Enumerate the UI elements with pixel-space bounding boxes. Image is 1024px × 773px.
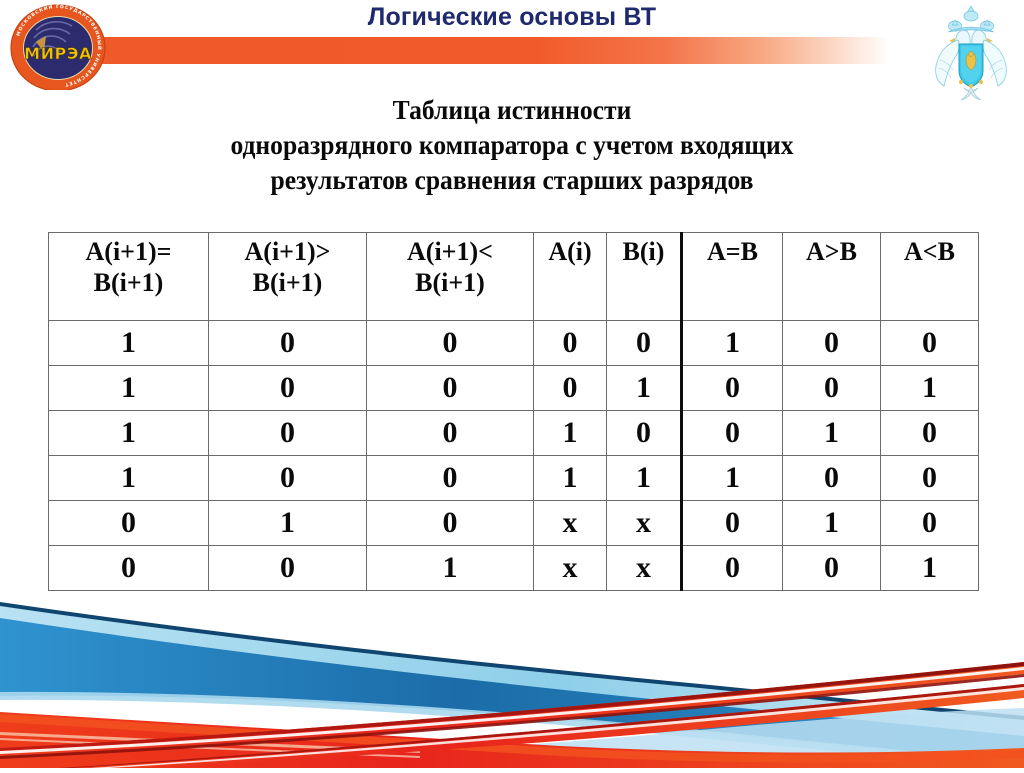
table-row: 10011100 [49, 456, 979, 501]
table-cell: 0 [881, 321, 979, 366]
column-header-line-top: A(i+1)< [367, 236, 533, 267]
table-cell: 1 [367, 546, 534, 591]
table-cell: 0 [49, 501, 209, 546]
table-cell: 0 [534, 366, 607, 411]
slide-heading: Таблица истинности одноразрядного компар… [60, 92, 964, 197]
table-cell: 0 [682, 546, 783, 591]
double-headed-eagle-emblem-icon [928, 2, 1014, 106]
table-row: 001xx001 [49, 546, 979, 591]
table-cell: 0 [534, 321, 607, 366]
table-cell: 0 [783, 456, 881, 501]
table-cell: 1 [49, 321, 209, 366]
column-header-line-top: A(i+1)= [49, 236, 208, 267]
table-cell: 0 [367, 366, 534, 411]
truth-table-container: A(i+1)= B(i+1) A(i+1)> B(i+1) A(i+1)< B(… [48, 232, 978, 591]
table-cell: 0 [881, 501, 979, 546]
table-cell: 0 [49, 546, 209, 591]
table-cell: 1 [783, 501, 881, 546]
table-cell: 0 [783, 321, 881, 366]
table-cell: x [607, 546, 682, 591]
truth-table: A(i+1)= B(i+1) A(i+1)> B(i+1) A(i+1)< B(… [48, 232, 979, 591]
column-header-line-bottom: B(i+1) [49, 267, 208, 298]
table-cell: 1 [49, 411, 209, 456]
truth-table-header: A(i+1)= B(i+1) A(i+1)> B(i+1) A(i+1)< B(… [49, 233, 979, 321]
table-cell: 0 [783, 546, 881, 591]
table-cell: 0 [209, 411, 367, 456]
column-header-a-eq-b: A=B [682, 233, 783, 321]
column-header-line-bottom: B(i+1) [367, 267, 533, 298]
table-cell: 0 [783, 366, 881, 411]
table-cell: 0 [682, 366, 783, 411]
table-cell: 0 [209, 321, 367, 366]
table-cell: 0 [209, 456, 367, 501]
table-cell: 0 [881, 456, 979, 501]
table-row: 10000100 [49, 321, 979, 366]
table-row: 10010010 [49, 411, 979, 456]
table-cell: x [534, 546, 607, 591]
table-cell: 1 [49, 456, 209, 501]
heading-line-1: Таблица истинности [92, 92, 933, 127]
table-cell: 1 [209, 501, 367, 546]
svg-text:МИРЭА: МИРЭА [24, 44, 92, 63]
table-cell: 1 [534, 411, 607, 456]
mirea-university-seal-icon: МОСКОВСКИЙ ГОСУДАРСТВЕННЫЙ УНИВЕРСИТЕТ М… [6, 2, 110, 90]
table-cell: 1 [534, 456, 607, 501]
table-cell: 0 [607, 321, 682, 366]
table-cell: 0 [682, 501, 783, 546]
table-cell: x [607, 501, 682, 546]
table-cell: 0 [367, 321, 534, 366]
column-header-a-lt-b: A<B [881, 233, 979, 321]
table-header-row: A(i+1)= B(i+1) A(i+1)> B(i+1) A(i+1)< B(… [49, 233, 979, 321]
table-cell: 1 [607, 366, 682, 411]
table-cell: 1 [607, 456, 682, 501]
table-cell: 1 [682, 321, 783, 366]
column-header-a-gt-b: A>B [783, 233, 881, 321]
heading-line-3: результатов сравнения старших разрядов [92, 162, 933, 197]
table-cell: 1 [881, 366, 979, 411]
table-cell: 0 [881, 411, 979, 456]
table-cell: 0 [607, 411, 682, 456]
heading-line-2: одноразрядного компаратора с учетом вход… [92, 127, 933, 162]
wave-ribbon-decoration-icon [0, 588, 1024, 768]
page-title: Логические основы ВТ [0, 3, 1024, 32]
table-row: 10001001 [49, 366, 979, 411]
table-cell: 1 [881, 546, 979, 591]
table-cell: 0 [367, 411, 534, 456]
column-header-line-top: A(i+1)> [209, 236, 366, 267]
column-header-bi: B(i) [607, 233, 682, 321]
column-header-ai: A(i) [534, 233, 607, 321]
truth-table-body: 10000100100010011001001010011100010xx010… [49, 321, 979, 591]
column-header-a-eq-b-prev: A(i+1)= B(i+1) [49, 233, 209, 321]
table-cell: 0 [367, 501, 534, 546]
table-cell: 0 [209, 366, 367, 411]
table-cell: 1 [783, 411, 881, 456]
table-cell: 0 [682, 411, 783, 456]
table-cell: 0 [209, 546, 367, 591]
table-cell: 1 [49, 366, 209, 411]
table-row: 010xx010 [49, 501, 979, 546]
column-header-a-lt-b-prev: A(i+1)< B(i+1) [367, 233, 534, 321]
table-cell: x [534, 501, 607, 546]
column-header-line-bottom: B(i+1) [209, 267, 366, 298]
table-cell: 0 [367, 456, 534, 501]
column-header-a-gt-b-prev: A(i+1)> B(i+1) [209, 233, 367, 321]
header-accent-bar [90, 37, 890, 64]
table-cell: 1 [682, 456, 783, 501]
